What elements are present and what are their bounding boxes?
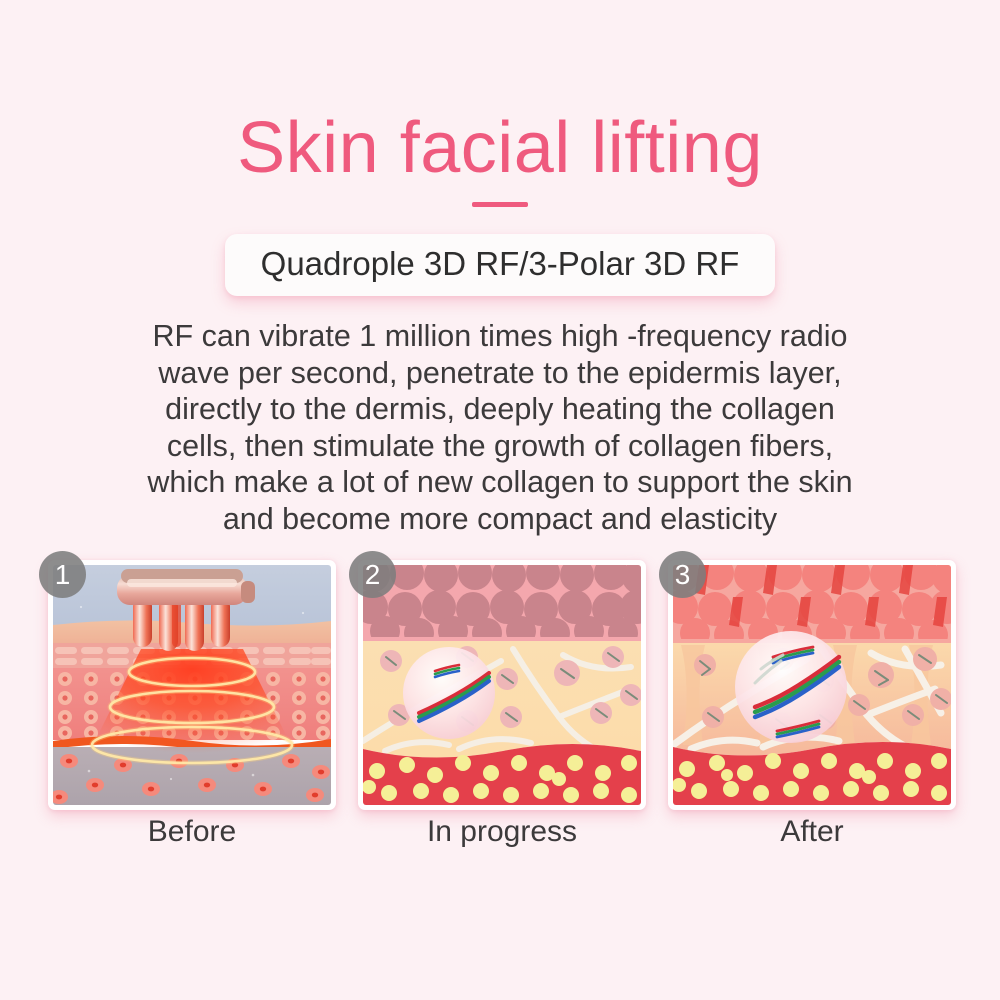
description-paragraph: RF can vibrate 1 million times high -fre… — [80, 318, 920, 537]
panel-in-progress: 2 — [358, 560, 646, 810]
subtitle-pill: Quadrople 3D RF/3-Polar 3D RF — [225, 234, 776, 296]
page-title: Skin facial lifting — [0, 112, 1000, 184]
caption-after: After — [668, 812, 956, 852]
description-line: which make a lot of new collagen to supp… — [80, 464, 920, 501]
infographic-page: Skin facial lifting Quadrople 3D RF/3-Po… — [0, 0, 1000, 1000]
illustration-rf-applicator — [53, 565, 331, 805]
caption-in-progress: In progress — [358, 812, 646, 852]
description-line: and become more compact and elasticity — [80, 501, 920, 538]
panel-badge-1: 1 — [39, 551, 86, 598]
subtitle-pill-container: Quadrople 3D RF/3-Polar 3D RF — [0, 234, 1000, 296]
illustration-new-collagen — [673, 565, 951, 805]
panel-badge-3: 3 — [659, 551, 706, 598]
illustration-collagen-heating — [363, 565, 641, 805]
description-line: directly to the dermis, deeply heating t… — [80, 391, 920, 428]
title-accent-rule — [472, 202, 528, 207]
panel-badge-2: 2 — [349, 551, 396, 598]
description-line: cells, then stimulate the growth of coll… — [80, 428, 920, 465]
description-line: RF can vibrate 1 million times high -fre… — [80, 318, 920, 355]
caption-before: Before — [48, 812, 336, 852]
panel-captions: Before In progress After — [48, 812, 956, 852]
illustration-panels: 1 — [48, 560, 956, 810]
description-line: wave per second, penetrate to the epider… — [80, 355, 920, 392]
panel-before: 1 — [48, 560, 336, 810]
panel-after: 3 — [668, 560, 956, 810]
